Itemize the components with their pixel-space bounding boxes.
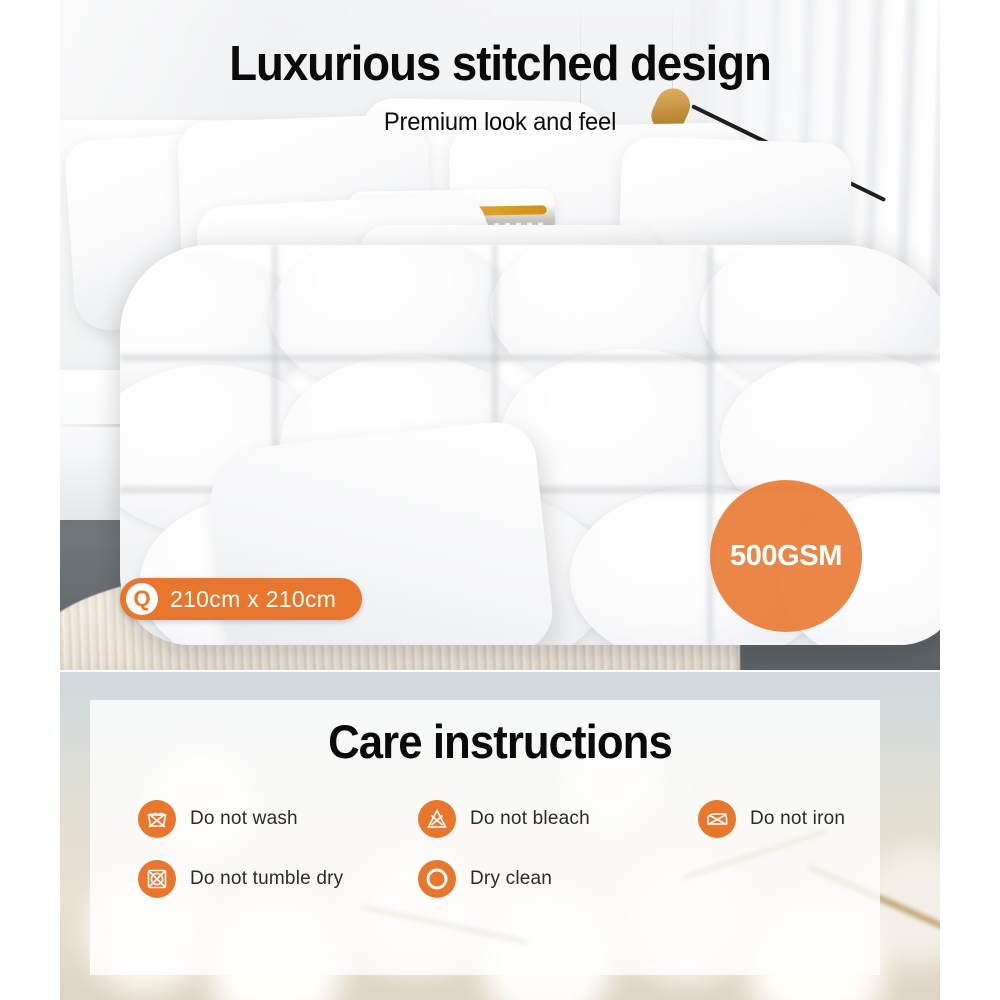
do-not-iron-icon — [698, 800, 736, 838]
care-item-label: Dry clean — [470, 868, 552, 890]
page-title: Luxurious stitched design — [91, 36, 909, 92]
care-instructions-title: Care instructions — [91, 714, 909, 769]
do-not-bleach-icon — [418, 800, 456, 838]
care-item-label: Do not tumble dry — [190, 868, 343, 890]
product-marketing-image: Luxurious stitched design Premium look a… — [0, 0, 1000, 1000]
hero-bedroom-photo: Luxurious stitched design Premium look a… — [60, 0, 940, 670]
care-row: Do not tumble dry Dry clean — [138, 860, 900, 898]
size-badge: Q 210cm x 210cm — [120, 578, 362, 620]
care-item-do-not-iron: Do not iron — [698, 800, 845, 838]
care-item-label: Do not iron — [750, 808, 845, 830]
care-item-do-not-bleach: Do not bleach — [418, 800, 698, 838]
care-item-do-not-wash: Do not wash — [138, 800, 418, 838]
gsm-badge: 500GSM — [710, 480, 862, 632]
do-not-tumble-dry-icon — [138, 860, 176, 898]
gsm-value-label: 500GSM — [730, 540, 842, 573]
care-item-label: Do not bleach — [470, 808, 590, 830]
care-item-label: Do not wash — [190, 808, 298, 830]
care-row: Do not wash Do not bleach — [138, 800, 900, 838]
care-instructions-section: Care instructions Do not wash — [60, 672, 940, 1000]
care-item-dry-clean: Dry clean — [418, 860, 698, 898]
page-subtitle: Premium look and feel — [82, 108, 918, 137]
do-not-wash-icon — [138, 800, 176, 838]
dry-clean-icon — [418, 860, 456, 898]
size-code-circle: Q — [126, 583, 158, 615]
care-instructions-grid: Do not wash Do not bleach — [138, 800, 900, 920]
care-item-do-not-tumble-dry: Do not tumble dry — [138, 860, 418, 898]
size-dimensions-label: 210cm x 210cm — [170, 586, 336, 613]
